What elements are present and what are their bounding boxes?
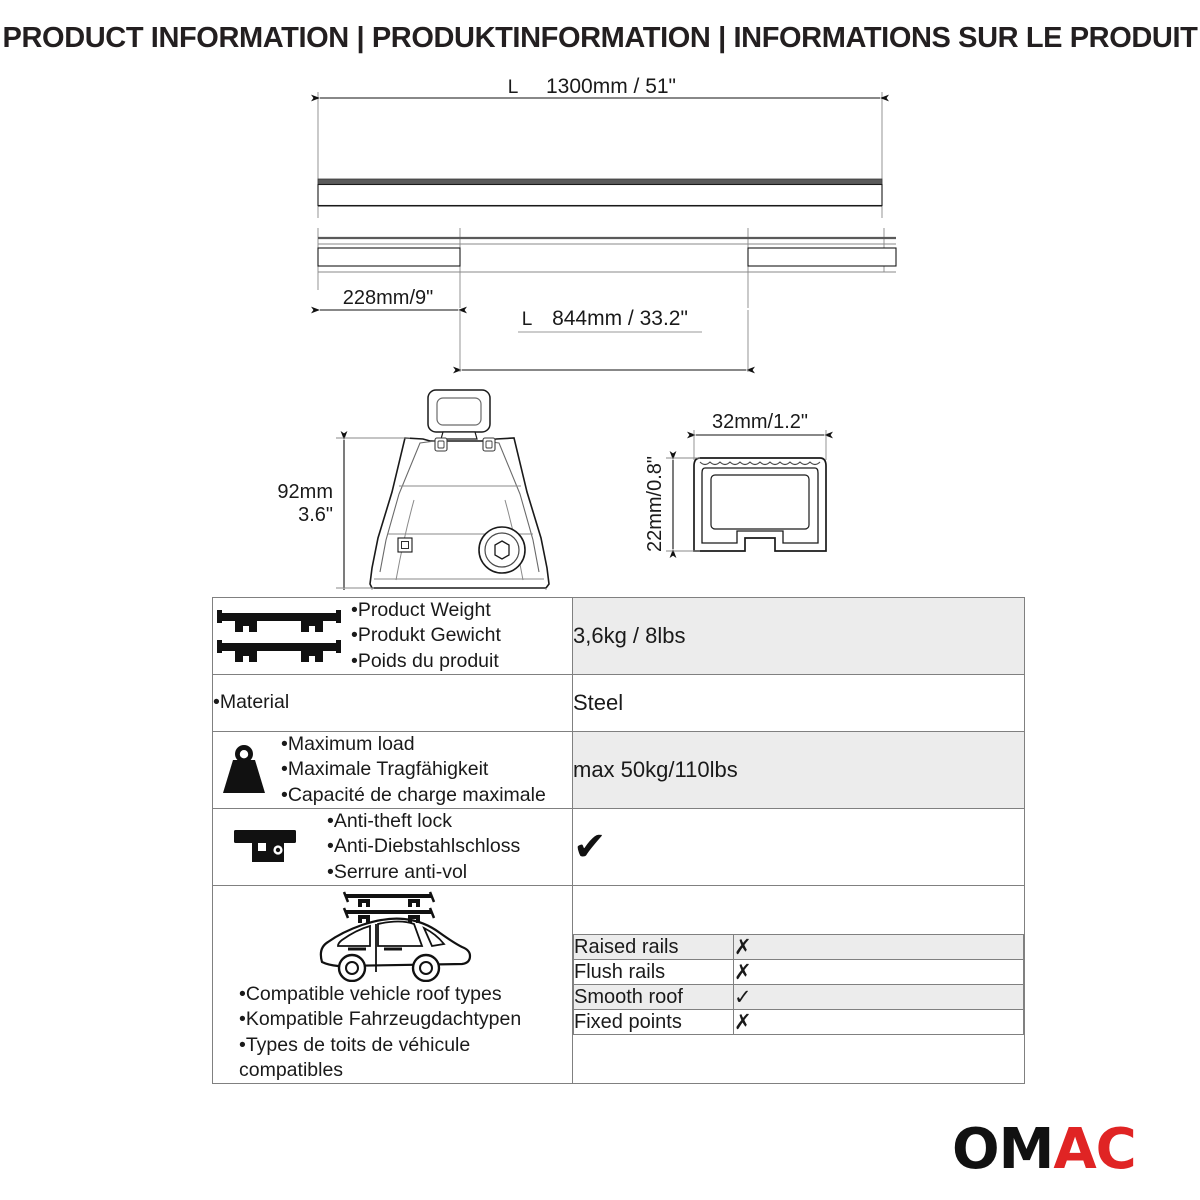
material-value: Steel (573, 675, 1025, 732)
dim-profile-height: 22mm/0.8" (644, 456, 666, 552)
dim-bar-length: 1300mm / 51" (546, 75, 676, 98)
label-line: •Anti-theft lock (327, 810, 452, 832)
weight-icon (213, 739, 275, 801)
roof-types-label-cell: •Compatible vehicle roof types •Kompatib… (213, 886, 573, 1084)
product-weight-labels: •Product Weight •Produkt Gewicht •Poids … (351, 598, 501, 674)
roof-type-mark: ✗ (734, 935, 1024, 960)
roof-type-name: Fixed points (574, 1010, 734, 1035)
dim-tower-height-l1: 92mm (277, 481, 333, 503)
label-line: •Compatible vehicle roof types (239, 983, 502, 1005)
label-line: •Product Weight (351, 599, 491, 621)
max-load-value: max 50kg/110lbs (573, 732, 1025, 809)
specification-table: •Product Weight •Produkt Gewicht •Poids … (212, 597, 1025, 1084)
anti-theft-label-cell: •Anti-theft lock •Anti-Diebstahlschloss … (213, 809, 573, 886)
max-load-labels: •Maximum load •Maximale Tragfähigkeit •C… (281, 732, 546, 808)
roof-types-labels: •Compatible vehicle roof types •Kompatib… (213, 982, 521, 1083)
roof-types-subtable-cell: Raised rails ✗ Flush rails ✗ Smooth roof… (573, 886, 1025, 1084)
product-weight-value: 3,6kg / 8lbs (573, 598, 1025, 675)
max-load-label-cell: •Maximum load •Maximale Tragfähigkeit •C… (213, 732, 573, 809)
dim-foot-spacing-prefix: L (522, 309, 533, 330)
material-label: •Material (213, 690, 289, 715)
roof-type-mark: ✗ (734, 960, 1024, 985)
table-row: •Compatible vehicle roof types •Kompatib… (213, 886, 1025, 1084)
roof-type-row: Raised rails ✗ (574, 935, 1024, 960)
roof-types-table: Raised rails ✗ Flush rails ✗ Smooth roof… (573, 934, 1024, 1035)
lock-icon (213, 822, 321, 872)
material-label-cell: •Material (213, 675, 573, 732)
logo-red-text: AC (1053, 1117, 1135, 1182)
label-line: •Serrure anti-vol (327, 861, 467, 883)
label-line: •Maximum load (281, 733, 415, 755)
label-line: •Kompatible Fahrzeugdachtypen (239, 1008, 521, 1030)
page-title: PRODUCT INFORMATION | PRODUKTINFORMATION… (0, 22, 1200, 55)
dim-profile-width: 32mm/1.2" (712, 411, 808, 433)
label-line: •Poids du produit (351, 650, 499, 672)
roof-type-row: Smooth roof ✓ (574, 985, 1024, 1010)
roof-type-row: Flush rails ✗ (574, 960, 1024, 985)
dim-end-offset: 228mm/9" (343, 287, 433, 309)
table-row: •Material Steel (213, 675, 1025, 732)
label-line: •Maximale Tragfähigkeit (281, 758, 488, 780)
anti-theft-value: ✔ (573, 809, 1025, 886)
roof-type-name: Flush rails (574, 960, 734, 985)
dim-bar-length-prefix: L (508, 77, 519, 98)
logo-dark-text: OM (952, 1117, 1053, 1182)
label-line: •Produkt Gewicht (351, 624, 501, 646)
product-information-sheet: PRODUCT INFORMATION | PRODUKTINFORMATION… (0, 0, 1200, 1200)
dim-tower-height-l2: 3.6" (298, 504, 333, 526)
dim-foot-spacing: 844mm / 33.2" (552, 307, 688, 330)
table-row: •Maximum load •Maximale Tragfähigkeit •C… (213, 732, 1025, 809)
table-row: •Product Weight •Produkt Gewicht •Poids … (213, 598, 1025, 675)
label-line: compatibles (239, 1059, 343, 1081)
omac-logo: OMAC (952, 1122, 1136, 1178)
roof-type-mark: ✗ (734, 1010, 1024, 1035)
label-line: •Anti-Diebstahlschloss (327, 835, 520, 857)
technical-drawing: L 1300mm / 51" 228mm/9" L 844mm / 33.2" … (0, 60, 1200, 590)
roof-type-row: Fixed points ✗ (574, 1010, 1024, 1035)
checkmark-icon: ✔ (573, 824, 607, 870)
label-line: •Types de toits de véhicule (239, 1034, 470, 1056)
product-weight-label-cell: •Product Weight •Produkt Gewicht •Poids … (213, 598, 573, 675)
roof-type-name: Smooth roof (574, 985, 734, 1010)
crossbars-icon (213, 605, 345, 667)
anti-theft-labels: •Anti-theft lock •Anti-Diebstahlschloss … (327, 809, 520, 885)
car-with-rack-icon (308, 886, 478, 982)
label-line: •Capacité de charge maximale (281, 784, 546, 806)
table-row: •Anti-theft lock •Anti-Diebstahlschloss … (213, 809, 1025, 886)
roof-type-name: Raised rails (574, 935, 734, 960)
roof-type-mark: ✓ (734, 985, 1024, 1010)
